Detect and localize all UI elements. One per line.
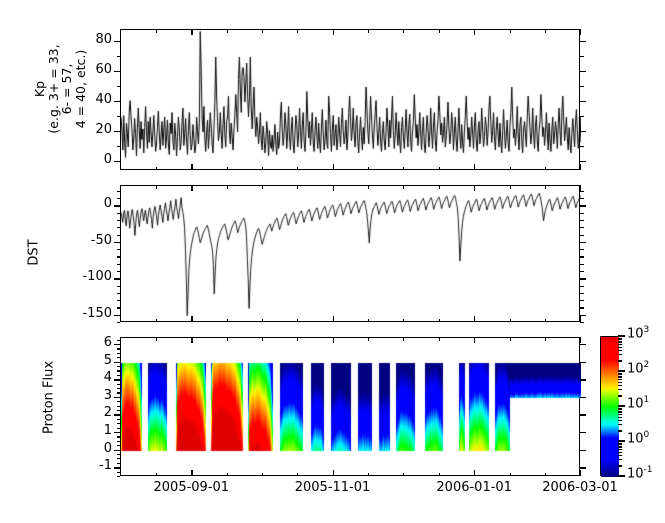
tick-mark xyxy=(117,458,121,459)
axis-tick-label: 2 xyxy=(78,405,112,420)
axis-tick-label: -1 xyxy=(78,458,112,473)
tick-mark xyxy=(618,459,622,460)
tick-mark xyxy=(618,344,622,345)
tick-mark xyxy=(117,419,121,420)
tick-mark xyxy=(114,71,120,72)
axis-tick-label: 3 xyxy=(78,388,112,403)
tick-mark xyxy=(618,360,622,361)
tick-mark xyxy=(580,227,584,228)
tick-mark xyxy=(580,86,584,87)
tick-mark xyxy=(439,185,440,189)
tick-mark xyxy=(117,213,121,214)
tick-mark xyxy=(297,185,298,189)
tick-mark xyxy=(120,337,121,341)
tick-mark xyxy=(545,29,546,33)
tick-mark xyxy=(156,319,157,323)
tick-mark xyxy=(618,347,622,348)
tick-mark xyxy=(618,440,625,442)
axis-tick-label: 0 xyxy=(78,441,112,456)
tick-mark xyxy=(580,467,586,468)
tick-mark xyxy=(117,227,121,228)
tick-mark xyxy=(580,362,586,363)
tick-mark xyxy=(297,473,298,477)
tick-mark xyxy=(114,41,120,42)
axis-tick-label: 4 xyxy=(78,370,112,385)
tick-mark xyxy=(618,455,622,456)
tick-mark xyxy=(120,473,121,477)
colorbar xyxy=(600,336,618,476)
colorbar-tick-exponent: 1 xyxy=(644,395,650,405)
tick-mark xyxy=(580,322,584,323)
tick-mark xyxy=(580,146,584,147)
x-axis-tick-label: 2005-09-01 xyxy=(136,480,246,495)
tick-mark xyxy=(618,452,622,453)
tick-mark xyxy=(117,293,121,294)
axis-tick-label: 5 xyxy=(78,353,112,368)
tick-mark xyxy=(333,164,334,170)
tick-mark xyxy=(156,337,157,341)
tick-mark xyxy=(439,319,440,323)
tick-mark xyxy=(368,29,369,33)
tick-mark xyxy=(618,443,622,444)
tick-mark xyxy=(618,449,622,450)
tick-mark xyxy=(117,436,121,437)
colorbar-tick-exponent: 2 xyxy=(644,360,650,370)
colorbar-tick-mantissa: 10 xyxy=(627,361,644,376)
tick-mark xyxy=(580,191,584,192)
tick-mark xyxy=(117,366,121,367)
tick-mark xyxy=(545,337,546,341)
tick-mark xyxy=(117,423,121,424)
colorbar-tick-label: 101 xyxy=(627,395,649,411)
tick-mark xyxy=(191,337,192,343)
tick-mark xyxy=(510,185,511,189)
tick-mark xyxy=(227,185,228,189)
axis-tick-label: 40 xyxy=(72,92,112,107)
tick-mark xyxy=(156,473,157,477)
tick-mark xyxy=(117,56,121,57)
tick-mark xyxy=(580,213,584,214)
dst-axis-label: DST xyxy=(27,233,42,273)
tick-mark xyxy=(191,470,192,476)
tick-mark xyxy=(403,319,404,323)
tick-mark xyxy=(580,249,584,250)
tick-mark xyxy=(117,406,121,407)
tick-mark xyxy=(333,29,334,35)
tick-mark xyxy=(297,319,298,323)
dst-series-canvas xyxy=(121,186,581,323)
tick-mark xyxy=(114,278,120,279)
tick-mark xyxy=(262,319,263,323)
tick-mark xyxy=(117,392,121,393)
tick-mark xyxy=(117,375,121,376)
tick-mark xyxy=(580,56,584,57)
dst-panel xyxy=(120,185,580,322)
tick-mark xyxy=(117,463,121,464)
tick-mark xyxy=(227,319,228,323)
tick-mark xyxy=(580,379,586,380)
tick-mark xyxy=(120,167,121,171)
tick-mark xyxy=(618,405,625,407)
tick-mark xyxy=(580,116,584,117)
tick-mark xyxy=(618,409,622,410)
tick-mark xyxy=(117,116,121,117)
tick-mark xyxy=(262,337,263,341)
tick-mark xyxy=(510,337,511,341)
tick-mark xyxy=(403,29,404,33)
tick-mark xyxy=(580,198,584,199)
tick-mark xyxy=(114,101,120,102)
tick-mark xyxy=(474,316,475,322)
tick-mark xyxy=(580,293,584,294)
tick-mark xyxy=(117,307,121,308)
figure-root: Kp(e.g. 3+ = 33,6- = 57,4 = 40, etc.) 02… xyxy=(0,0,665,523)
tick-mark xyxy=(580,397,586,398)
tick-mark xyxy=(117,397,121,398)
tick-mark xyxy=(580,71,586,72)
tick-mark xyxy=(618,335,625,337)
tick-mark xyxy=(580,185,581,191)
tick-mark xyxy=(618,339,622,340)
tick-mark xyxy=(117,286,121,287)
tick-mark xyxy=(333,316,334,322)
x-axis-tick-label: 2005-11-01 xyxy=(278,480,388,495)
tick-mark xyxy=(403,473,404,477)
tick-mark xyxy=(618,444,622,445)
kp-series-canvas xyxy=(121,30,581,171)
tick-mark xyxy=(618,385,622,386)
axis-tick-label: 0 xyxy=(72,152,112,167)
tick-mark xyxy=(117,441,121,442)
tick-mark xyxy=(580,101,586,102)
colorbar-tick-label: 10-1 xyxy=(627,465,653,481)
tick-mark xyxy=(618,424,622,425)
tick-mark xyxy=(580,432,586,433)
tick-mark xyxy=(580,470,581,476)
tick-mark xyxy=(117,256,121,257)
tick-mark xyxy=(117,410,121,411)
tick-mark xyxy=(580,264,584,265)
tick-mark xyxy=(510,473,511,477)
tick-mark xyxy=(618,417,622,418)
tick-mark xyxy=(117,249,121,250)
proton-flux-panel xyxy=(120,337,580,476)
tick-mark xyxy=(117,86,121,87)
tick-mark xyxy=(227,167,228,171)
tick-mark xyxy=(114,161,120,162)
tick-mark xyxy=(580,220,584,221)
tick-mark xyxy=(227,337,228,341)
tick-mark xyxy=(333,185,334,191)
x-axis-tick-label: 2006-03-01 xyxy=(525,480,635,495)
tick-mark xyxy=(297,167,298,171)
tick-mark xyxy=(117,264,121,265)
colorbar-tick-mantissa: 10 xyxy=(627,466,644,481)
tick-mark xyxy=(262,29,263,33)
tick-mark xyxy=(156,29,157,33)
tick-mark xyxy=(117,362,121,363)
tick-mark xyxy=(545,473,546,477)
tick-mark xyxy=(117,414,121,415)
axis-tick-label: 1 xyxy=(78,423,112,438)
tick-mark xyxy=(580,414,586,415)
tick-mark xyxy=(580,29,581,35)
tick-mark xyxy=(618,446,622,447)
axis-tick-label: 60 xyxy=(72,62,112,77)
tick-mark xyxy=(117,476,121,477)
tick-mark xyxy=(474,164,475,170)
tick-mark xyxy=(117,467,121,468)
tick-mark xyxy=(618,411,622,412)
tick-mark xyxy=(618,374,622,375)
tick-mark xyxy=(368,337,369,341)
tick-mark xyxy=(618,430,622,431)
proton-flux-heatmap xyxy=(121,338,581,477)
tick-mark xyxy=(120,185,121,189)
tick-mark xyxy=(618,414,622,415)
colorbar-tick-label: 102 xyxy=(627,360,649,376)
colorbar-tick-mantissa: 10 xyxy=(627,396,644,411)
colorbar-tick-label: 100 xyxy=(627,430,649,446)
tick-mark xyxy=(580,161,586,162)
tick-mark xyxy=(545,319,546,323)
tick-mark xyxy=(580,41,586,42)
axis-tick-label: 20 xyxy=(72,122,112,137)
tick-mark xyxy=(439,337,440,341)
tick-mark xyxy=(618,338,622,339)
tick-mark xyxy=(580,286,584,287)
tick-mark xyxy=(117,344,121,345)
tick-mark xyxy=(156,167,157,171)
tick-mark xyxy=(117,271,121,272)
tick-mark xyxy=(474,337,475,343)
kp-axis-label-line-0: Kp xyxy=(33,19,47,159)
tick-mark xyxy=(618,376,622,377)
colorbar-tick-exponent: -1 xyxy=(644,465,653,475)
tick-mark xyxy=(618,389,622,390)
axis-tick-label: 6 xyxy=(78,335,112,350)
tick-mark xyxy=(439,167,440,171)
tick-mark xyxy=(439,473,440,477)
tick-mark xyxy=(368,167,369,171)
tick-mark xyxy=(117,198,121,199)
tick-mark xyxy=(580,271,584,272)
tick-mark xyxy=(618,373,622,374)
kp-panel xyxy=(120,29,580,170)
tick-mark xyxy=(580,164,581,170)
proton-flux-axis-label: Proton Flux xyxy=(42,343,57,453)
tick-mark xyxy=(117,348,121,349)
tick-mark xyxy=(117,322,121,323)
tick-mark xyxy=(117,445,121,446)
tick-mark xyxy=(580,235,584,236)
tick-mark xyxy=(368,185,369,189)
tick-mark xyxy=(545,185,546,189)
tick-mark xyxy=(191,29,192,35)
tick-mark xyxy=(120,319,121,323)
colorbar-gradient xyxy=(601,337,619,477)
tick-mark xyxy=(117,235,121,236)
axis-tick-label: 0 xyxy=(70,196,112,211)
tick-mark xyxy=(580,205,586,206)
tick-mark xyxy=(117,454,121,455)
tick-mark xyxy=(618,382,622,383)
tick-mark xyxy=(618,408,622,409)
tick-mark xyxy=(403,337,404,341)
tick-mark xyxy=(368,473,369,477)
tick-mark xyxy=(580,316,581,322)
tick-mark xyxy=(262,473,263,477)
tick-mark xyxy=(474,29,475,35)
tick-mark xyxy=(618,341,622,342)
tick-mark xyxy=(114,315,120,316)
tick-mark xyxy=(120,29,121,33)
tick-mark xyxy=(403,185,404,189)
colorbar-tick-mantissa: 10 xyxy=(627,431,644,446)
tick-mark xyxy=(580,337,581,343)
tick-mark xyxy=(368,319,369,323)
tick-mark xyxy=(191,164,192,170)
tick-mark xyxy=(262,167,263,171)
tick-mark xyxy=(618,350,622,351)
tick-mark xyxy=(117,220,121,221)
tick-mark xyxy=(114,242,120,243)
tick-mark xyxy=(117,146,121,147)
tick-mark xyxy=(114,205,120,206)
tick-mark xyxy=(580,278,586,279)
tick-mark xyxy=(227,473,228,477)
colorbar-tick-exponent: 0 xyxy=(644,430,650,440)
tick-mark xyxy=(117,357,121,358)
axis-tick-label: 80 xyxy=(72,32,112,47)
tick-mark xyxy=(117,384,121,385)
tick-mark xyxy=(580,300,584,301)
tick-mark xyxy=(114,131,120,132)
tick-mark xyxy=(618,379,622,380)
tick-mark xyxy=(474,185,475,191)
tick-mark xyxy=(117,370,121,371)
tick-mark xyxy=(618,475,625,477)
tick-mark xyxy=(262,185,263,189)
tick-mark xyxy=(580,256,584,257)
tick-mark xyxy=(117,428,121,429)
tick-mark xyxy=(618,395,622,396)
tick-mark xyxy=(618,420,622,421)
axis-tick-label: -100 xyxy=(70,269,112,284)
tick-mark xyxy=(117,450,121,451)
tick-mark xyxy=(117,300,121,301)
axis-tick-label: -50 xyxy=(70,233,112,248)
tick-mark xyxy=(227,29,228,33)
tick-mark xyxy=(191,185,192,191)
tick-mark xyxy=(333,337,334,343)
tick-mark xyxy=(580,344,586,345)
tick-mark xyxy=(403,167,404,171)
tick-mark xyxy=(117,388,121,389)
axis-tick-label: -150 xyxy=(70,306,112,321)
tick-mark xyxy=(191,316,192,322)
tick-mark xyxy=(618,370,625,372)
colorbar-tick-exponent: 3 xyxy=(644,325,650,335)
colorbar-tick-label: 103 xyxy=(627,325,649,341)
kp-axis-label-line-1: (e.g. 3+ = 33, xyxy=(47,19,61,159)
tick-mark xyxy=(439,29,440,33)
tick-mark xyxy=(618,465,622,466)
tick-mark xyxy=(618,354,622,355)
tick-mark xyxy=(117,191,121,192)
tick-mark xyxy=(156,185,157,189)
colorbar-tick-mantissa: 10 xyxy=(627,326,644,341)
tick-mark xyxy=(297,29,298,33)
tick-mark xyxy=(580,131,586,132)
tick-mark xyxy=(117,432,121,433)
tick-mark xyxy=(510,29,511,33)
x-axis-tick-label: 2006-01-01 xyxy=(419,480,529,495)
tick-mark xyxy=(117,353,121,354)
tick-mark xyxy=(297,337,298,341)
tick-mark xyxy=(510,167,511,171)
tick-mark xyxy=(117,379,121,380)
tick-mark xyxy=(117,401,121,402)
tick-mark xyxy=(580,242,586,243)
tick-mark xyxy=(510,319,511,323)
tick-mark xyxy=(474,470,475,476)
tick-mark xyxy=(545,167,546,171)
tick-mark xyxy=(580,307,584,308)
tick-mark xyxy=(580,450,586,451)
tick-mark xyxy=(333,470,334,476)
